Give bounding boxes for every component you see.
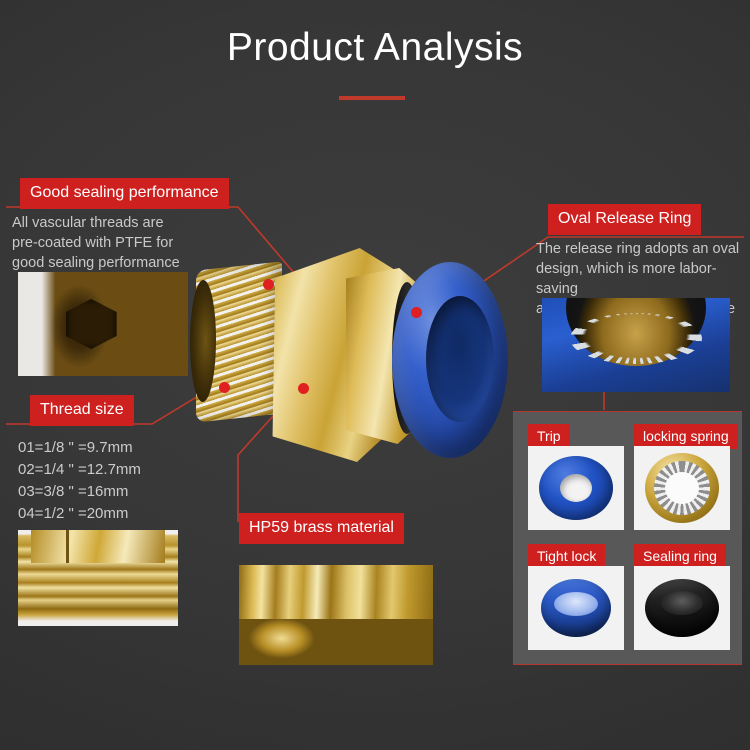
photo-threaded-brass-ptfe-closeup bbox=[18, 272, 188, 376]
photo-brass-rod-stock bbox=[239, 565, 433, 665]
blue-trip-ring-shape bbox=[539, 456, 613, 520]
gold-locking-spring-shape bbox=[645, 453, 719, 523]
parts-grid-panel: Trip locking spring Tight lock Sealing r… bbox=[513, 411, 742, 665]
grid-cell-trip: Trip bbox=[528, 424, 624, 534]
grid-cell-locking-spring: locking spring bbox=[634, 424, 730, 534]
photo-blue-trip-ring bbox=[528, 446, 624, 530]
text-good-sealing-performance: All vascular threads are pre-coated with… bbox=[12, 213, 222, 273]
title-underline-rule bbox=[339, 96, 405, 100]
callout-dot-thread-lower bbox=[219, 382, 230, 393]
page-title: Product Analysis bbox=[0, 26, 750, 70]
badge-oval-release-ring: Oval Release Ring bbox=[548, 204, 701, 235]
product-analysis-infographic: Product Analysis Good sealing per bbox=[0, 0, 750, 750]
badge-hp59-brass-material: HP59 brass material bbox=[239, 513, 404, 544]
badge-thread-size: Thread size bbox=[30, 395, 134, 426]
grid-cell-tight-lock: Tight lock bbox=[528, 544, 624, 654]
photo-black-sealing-ring bbox=[634, 566, 730, 650]
badge-good-sealing-performance: Good sealing performance bbox=[20, 178, 229, 209]
photo-blue-tight-lock-ring bbox=[528, 566, 624, 650]
blue-tight-lock-ring-shape bbox=[541, 579, 611, 637]
photo-blue-release-ring-macro bbox=[542, 298, 730, 392]
callout-dot-release-ring bbox=[411, 307, 422, 318]
callout-dot-material bbox=[298, 383, 309, 394]
photo-gold-locking-spring bbox=[634, 446, 730, 530]
callout-dot-sealing-upper bbox=[263, 279, 274, 290]
text-thread-size-list: 01=1/8 " =9.7mm 02=1/4 " =12.7mm 03=3/8 … bbox=[18, 437, 218, 525]
hero-product-image bbox=[196, 246, 508, 514]
hero-tube-bore bbox=[426, 296, 494, 422]
black-sealing-ring-shape bbox=[645, 579, 719, 637]
photo-brass-hex-thread-closeup bbox=[18, 530, 178, 626]
grid-cell-sealing-ring: Sealing ring bbox=[634, 544, 730, 654]
